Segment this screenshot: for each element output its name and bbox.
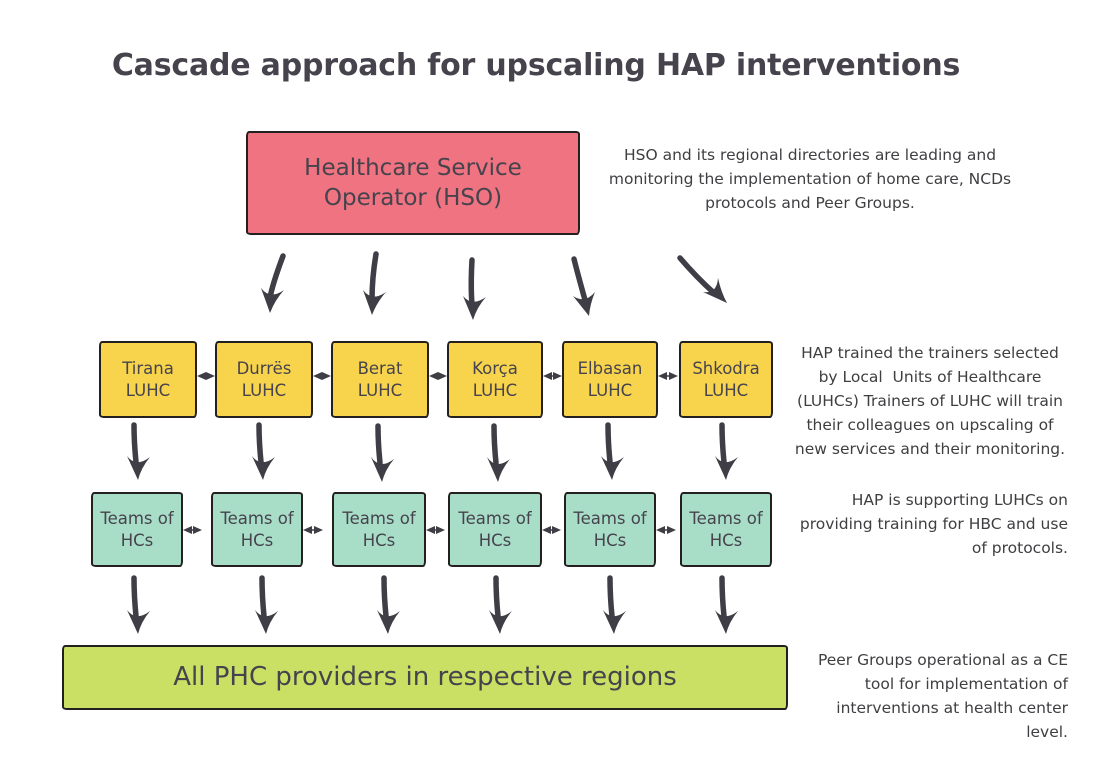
link-teams-4-5 xyxy=(542,526,561,534)
node-teams-5[interactable]: Teams of HCs xyxy=(564,492,656,567)
link-teams-2-3 xyxy=(303,526,323,534)
node-phc-providers[interactable]: All PHC providers in respective regions xyxy=(62,645,788,710)
node-luhc-berat[interactable]: Berat LUHC xyxy=(331,341,429,418)
node-teams-6-label: Teams of HCs xyxy=(682,508,770,552)
link-luhc-5-6 xyxy=(658,372,678,380)
node-luhc-durres-label: Durrës LUHC xyxy=(217,358,311,402)
node-teams-4[interactable]: Teams of HCs xyxy=(448,492,542,567)
node-luhc-shkodra-label: Shkodra LUHC xyxy=(681,358,771,402)
node-luhc-berat-label: Berat LUHC xyxy=(333,358,427,402)
link-luhc-4-5 xyxy=(543,372,562,380)
arrow-teams-to-phc-3 xyxy=(377,578,400,634)
arrow-luhc-to-teams-6 xyxy=(715,425,738,480)
node-luhc-elbasan[interactable]: Elbasan LUHC xyxy=(562,341,658,418)
node-luhc-shkodra[interactable]: Shkodra LUHC xyxy=(679,341,773,418)
arrow-luhc-to-teams-4 xyxy=(487,426,510,482)
arrow-teams-to-phc-6 xyxy=(715,578,738,634)
node-luhc-korca-label: Korça LUHC xyxy=(449,358,541,402)
node-teams-6[interactable]: Teams of HCs xyxy=(680,492,772,567)
note-teams: HAP is supporting LUHCs on providing tra… xyxy=(796,488,1068,560)
node-luhc-tirana-label: Tirana LUHC xyxy=(101,358,195,402)
arrow-luhc-to-teams-2 xyxy=(252,425,275,480)
link-luhc-2-3 xyxy=(313,372,331,380)
node-teams-3[interactable]: Teams of HCs xyxy=(332,492,426,567)
arrow-hso-to-luhc-2 xyxy=(363,254,386,315)
link-teams-3-4 xyxy=(426,526,445,534)
node-luhc-elbasan-label: Elbasan LUHC xyxy=(564,358,656,402)
node-hso-label: Healthcare Service Operator (HSO) xyxy=(248,153,578,214)
arrow-hso-to-luhc-1 xyxy=(261,256,284,313)
node-phc-providers-label: All PHC providers in respective regions xyxy=(173,660,677,694)
arrow-teams-to-phc-2 xyxy=(255,578,278,634)
link-teams-5-6 xyxy=(656,526,676,534)
arrow-teams-to-phc-1 xyxy=(127,578,150,634)
node-teams-1[interactable]: Teams of HCs xyxy=(91,492,183,567)
arrow-luhc-to-teams-3 xyxy=(371,426,394,482)
node-luhc-tirana[interactable]: Tirana LUHC xyxy=(99,341,197,418)
node-teams-5-label: Teams of HCs xyxy=(566,508,654,552)
node-teams-4-label: Teams of HCs xyxy=(450,508,540,552)
node-teams-3-label: Teams of HCs xyxy=(334,508,424,552)
node-teams-2-label: Teams of HCs xyxy=(213,508,301,552)
link-luhc-3-4 xyxy=(429,372,447,380)
arrow-hso-to-luhc-5 xyxy=(680,258,727,303)
diagram-canvas: Cascade approach for upscaling HAP inter… xyxy=(0,0,1100,777)
arrow-luhc-to-teams-1 xyxy=(127,425,150,480)
node-luhc-durres[interactable]: Durrës LUHC xyxy=(215,341,313,418)
link-teams-1-2 xyxy=(183,526,202,534)
node-teams-2[interactable]: Teams of HCs xyxy=(211,492,303,567)
arrow-hso-to-luhc-4 xyxy=(573,259,595,316)
arrow-hso-to-luhc-3 xyxy=(463,260,486,320)
page-title: Cascade approach for upscaling HAP inter… xyxy=(0,48,1072,83)
node-hso[interactable]: Healthcare Service Operator (HSO) xyxy=(246,131,580,235)
node-teams-1-label: Teams of HCs xyxy=(93,508,181,552)
link-luhc-1-2 xyxy=(197,372,215,380)
arrow-teams-to-phc-5 xyxy=(603,578,626,634)
arrow-luhc-to-teams-5 xyxy=(601,425,624,480)
arrow-teams-to-phc-4 xyxy=(489,578,512,634)
node-luhc-korca[interactable]: Korça LUHC xyxy=(447,341,543,418)
note-luhc: HAP trained the trainers selected by Loc… xyxy=(790,341,1070,461)
note-hso: HSO and its regional directories are lea… xyxy=(600,143,1020,215)
note-phc: Peer Groups operational as a CE tool for… xyxy=(796,648,1068,744)
